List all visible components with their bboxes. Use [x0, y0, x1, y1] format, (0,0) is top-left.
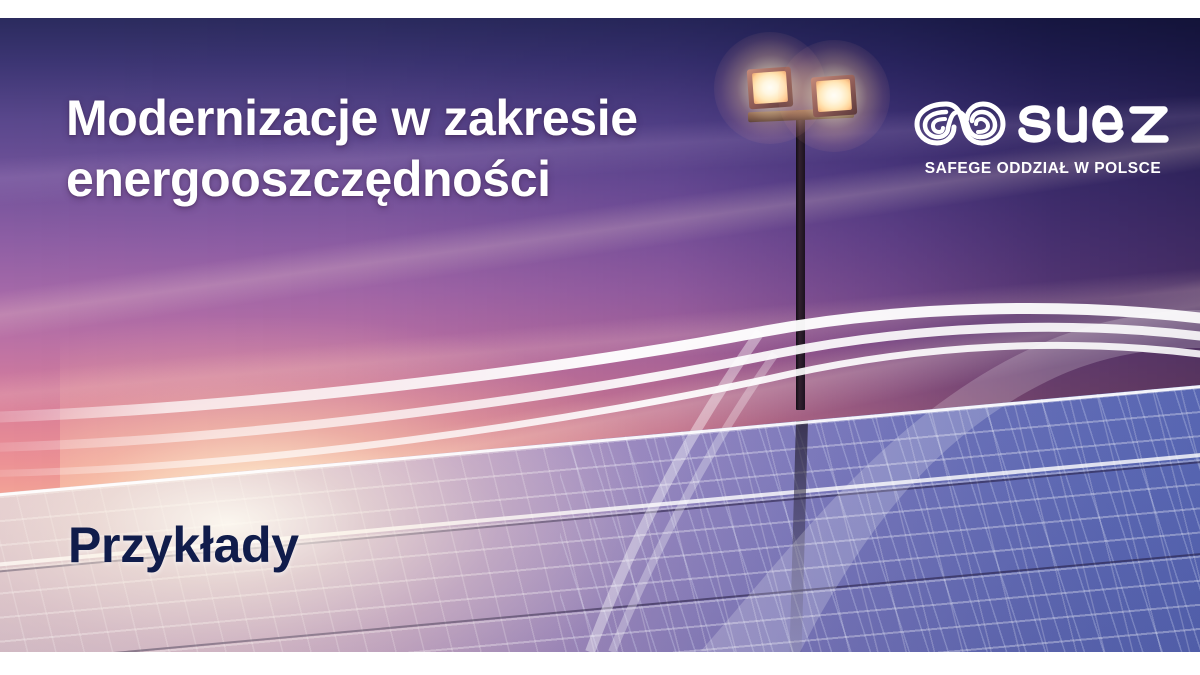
logo-subtitle: SAFEGE ODDZIAŁ W POLSCE	[912, 160, 1174, 178]
caption: Przykłady	[68, 516, 299, 574]
floodlight-mast	[796, 110, 805, 410]
slide-canvas: Modernizacje w zakresie energooszczędnoś…	[0, 0, 1200, 675]
logo-primary-row	[912, 92, 1174, 154]
headline: Modernizacje w zakresie energooszczędnoś…	[66, 88, 786, 210]
suez-logo: SAFEGE ODDZIAŁ W POLSCE	[912, 92, 1174, 178]
headline-line-1: Modernizacje w zakresie	[66, 88, 786, 149]
headline-line-2: energooszczędności	[66, 149, 786, 210]
letterbox-bottom	[0, 652, 1200, 675]
letterbox-top	[0, 0, 1200, 18]
suez-infinity-swirl-icon	[912, 94, 1008, 152]
suez-wordmark	[1018, 98, 1170, 148]
floodlight-right-lens	[816, 79, 852, 112]
